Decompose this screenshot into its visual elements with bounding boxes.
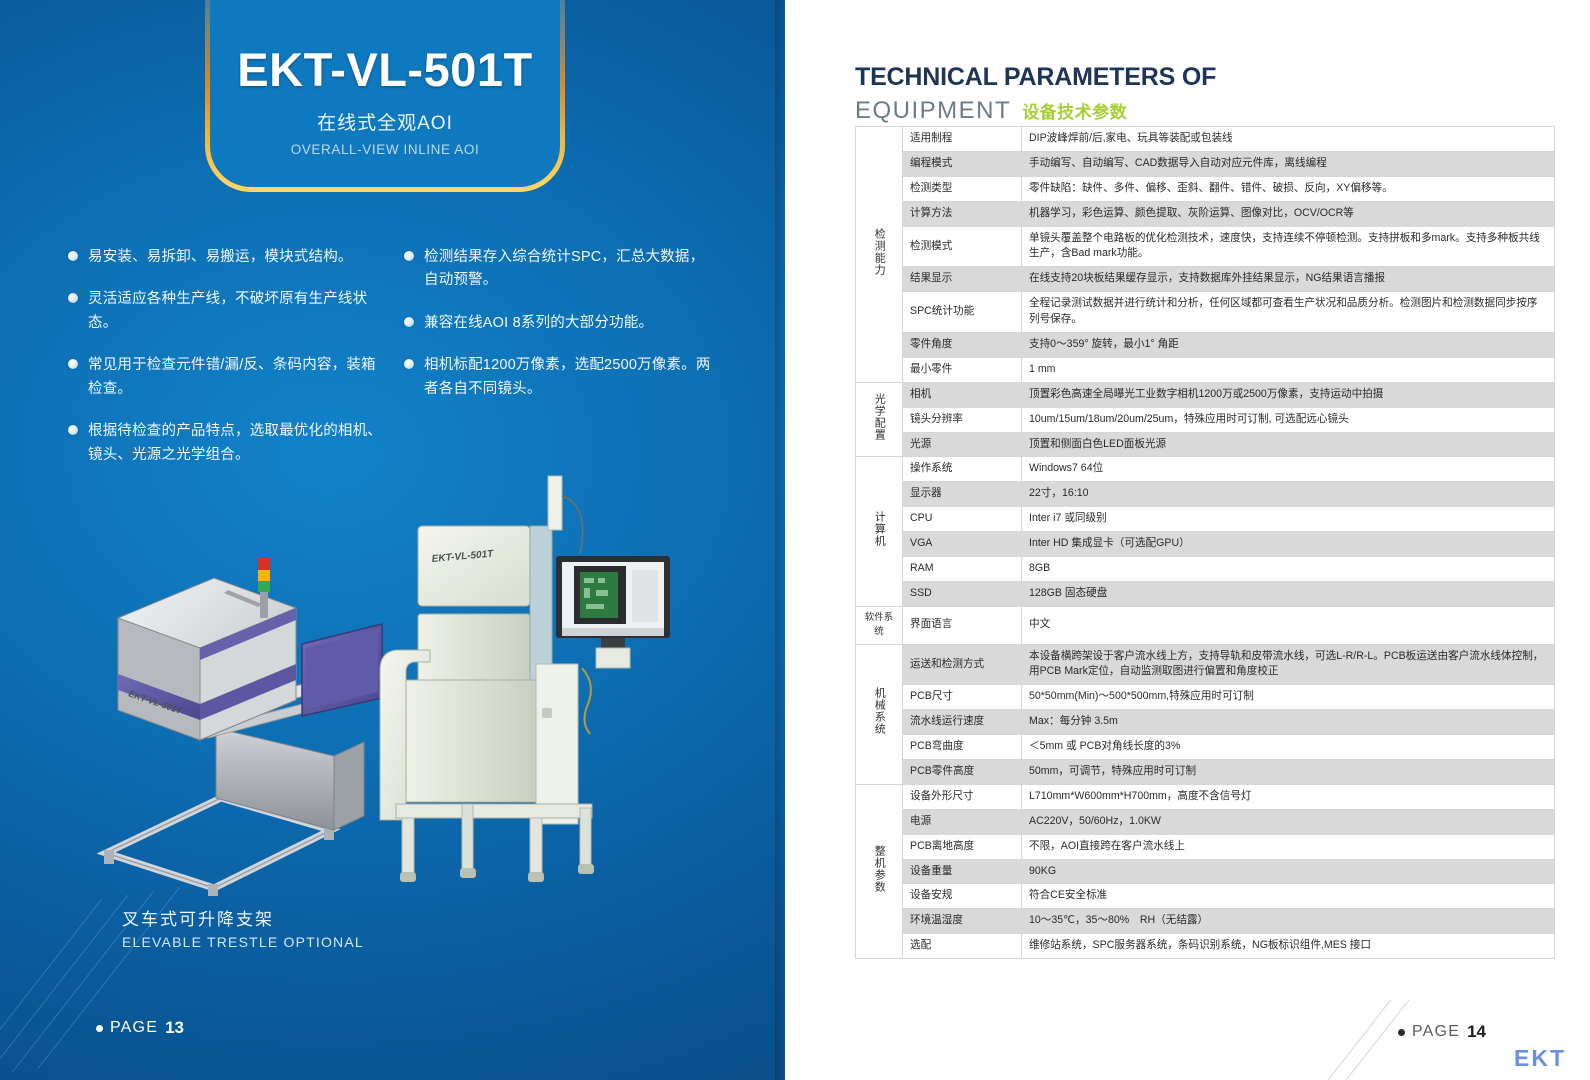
product-photo: EKT-VL-501T (96, 468, 706, 898)
spec-row: 最小零件1 mm (856, 357, 1555, 382)
feature-bullet-item: 检测结果存入综合统计SPC，汇总大数据，自动预警。 (404, 246, 718, 293)
spec-row: 整机参数设备外形尺寸L710mm*W600mm*H700mm，高度不含信号灯 (856, 784, 1555, 809)
spec-value: 顶置彩色高速全局曝光工业数字相机1200万或2500万像素，支持运动中拍摄 (1022, 382, 1555, 407)
spec-key: 结果显示 (903, 267, 1022, 292)
spec-key: 电源 (903, 809, 1022, 834)
spec-key: 操作系统 (903, 457, 1022, 482)
spec-group-label: 软件系统 (856, 606, 903, 644)
page-label: PAGE (1412, 1023, 1460, 1041)
feature-bullet-text: 常见用于检查元件错/漏/反、条码内容，装箱检查。 (88, 354, 382, 401)
spec-key: 检测类型 (903, 176, 1022, 201)
page-marker-right: PAGE 14 (1398, 1022, 1486, 1042)
brochure-spread: EKT-VL-501T 在线式全观AOI OVERALL-VIEW INLINE… (0, 0, 1590, 1080)
product-subtitle-cn: 在线式全观AOI (317, 108, 453, 135)
left-page: EKT-VL-501T 在线式全观AOI OVERALL-VIEW INLINE… (0, 0, 785, 1080)
spec-row: 环境温湿度10～35℃，35～80% RH（无结露） (856, 909, 1555, 934)
spec-row: 计算机操作系统Windows7 64位 (856, 457, 1555, 482)
spec-key: 设备重量 (903, 859, 1022, 884)
spec-key: 选配 (903, 934, 1022, 959)
technical-parameters-table: 检测能力适用制程DIP波峰焊前/后,家电、玩具等装配或包装线编程模式手动编写、自… (855, 126, 1555, 959)
feature-bullet-item: 灵活适应各种生产线，不破坏原有生产线状态。 (68, 288, 382, 335)
spec-row: 电源AC220V，50/60Hz，1.0KW (856, 809, 1555, 834)
spec-key: RAM (903, 557, 1022, 582)
spec-value: 90KG (1022, 859, 1555, 884)
spec-key: 设备安规 (903, 884, 1022, 909)
spec-value: 中文 (1022, 606, 1555, 644)
spec-row: 光源顶置和侧面白色LED面板光源 (856, 432, 1555, 457)
spec-key: SPC统计功能 (903, 292, 1022, 333)
caption-cn: 叉车式可升降支架 (122, 905, 522, 930)
spec-row: 显示器22寸，16:10 (856, 482, 1555, 507)
right-page: TECHNICAL PARAMETERS OF EQUIPMENT 设备技术参数… (795, 0, 1590, 1080)
spec-row: RAM8GB (856, 557, 1555, 582)
spec-group-label: 检测能力 (856, 127, 903, 383)
spec-value: 在线支持20块板结果缓存显示，支持数据库外挂结果显示，NG结果语言播报 (1022, 267, 1555, 292)
spec-key: 流水线运行速度 (903, 710, 1022, 735)
heading-line2: EQUIPMENT (855, 97, 1011, 125)
spec-value: 50mm，可调节，特殊应用时可订制 (1022, 760, 1555, 785)
spec-key: 镜头分辨率 (903, 407, 1022, 432)
spec-value: 50*50mm(Min)～500*500mm,特殊应用时可订制 (1022, 685, 1555, 710)
spec-value: 8GB (1022, 557, 1555, 582)
spec-group-label: 计算机 (856, 457, 903, 606)
feature-bullet-item: 常见用于检查元件错/漏/反、条码内容，装箱检查。 (68, 354, 382, 401)
spec-row: 光学配置相机顶置彩色高速全局曝光工业数字相机1200万或2500万像素，支持运动… (856, 382, 1555, 407)
spec-row: PCB离地高度不限，AOI直接跨在客户流水线上 (856, 834, 1555, 859)
spec-key: 界面语言 (903, 606, 1022, 644)
heading-line1: TECHNICAL PARAMETERS OF (855, 64, 1216, 92)
feature-bullet-text: 检测结果存入综合统计SPC，汇总大数据，自动预警。 (424, 246, 718, 293)
spec-key: 显示器 (903, 482, 1022, 507)
spec-value: 单镜头覆盖整个电路板的优化检测技术，速度快，支持连续不停顿检测。支持拼板和多ma… (1022, 226, 1555, 267)
spec-row: PCB尺寸50*50mm(Min)～500*500mm,特殊应用时可订制 (856, 685, 1555, 710)
bullet-dot-icon (404, 359, 414, 369)
spec-row: 设备重量90KG (856, 859, 1555, 884)
feature-bullet-lists: 易安装、易拆卸、易搬运，模块式结构。灵活适应各种生产线，不破坏原有生产线状态。常… (68, 246, 718, 486)
spec-value: 不限，AOI直接跨在客户流水线上 (1022, 834, 1555, 859)
spec-key: 光源 (903, 432, 1022, 457)
spec-row: 检测模式单镜头覆盖整个电路板的优化检测技术，速度快，支持连续不停顿检测。支持拼板… (856, 226, 1555, 267)
spec-value: AC220V，50/60Hz，1.0KW (1022, 809, 1555, 834)
spec-key: 设备外形尺寸 (903, 784, 1022, 809)
feature-bullet-item: 兼容在线AOI 8系列的大部分功能。 (404, 312, 718, 335)
spec-key: PCB离地高度 (903, 834, 1022, 859)
feature-bullet-item: 相机标配1200万像素，选配2500万像素。两者各自不同镜头。 (404, 354, 718, 401)
brand-logo: EKT (1514, 1045, 1566, 1072)
spec-value: 10um/15um/18um/20um/25um，特殊应用时可订制, 可选配远心… (1022, 407, 1555, 432)
spec-value: 128GB 固态硬盘 (1022, 581, 1555, 606)
bullet-dot-icon (68, 293, 78, 303)
spec-value: DIP波峰焊前/后,家电、玩具等装配或包装线 (1022, 127, 1555, 152)
section-heading: TECHNICAL PARAMETERS OF EQUIPMENT 设备技术参数 (855, 64, 1216, 125)
feature-bullet-text: 灵活适应各种生产线，不破坏原有生产线状态。 (88, 288, 382, 335)
spec-row: 设备安规符合CE安全标准 (856, 884, 1555, 909)
page-bullet-icon (1398, 1029, 1405, 1036)
spec-group-label: 整机参数 (856, 784, 903, 958)
page-label: PAGE (110, 1019, 158, 1037)
caption-en: ELEVABLE TRESTLE OPTIONAL (122, 934, 522, 950)
spec-key: VGA (903, 532, 1022, 557)
aoi-module-right: EKT-VL-501T (380, 476, 670, 882)
page-bullet-icon (96, 1025, 103, 1032)
bullet-dot-icon (68, 251, 78, 261)
product-illustration-svg-right: EKT-VL-501T (96, 468, 706, 898)
spec-key: 适用制程 (903, 127, 1022, 152)
feature-column-left: 易安装、易拆卸、易搬运，模块式结构。灵活适应各种生产线，不破坏原有生产线状态。常… (68, 246, 382, 486)
spec-key: 零件角度 (903, 333, 1022, 358)
feature-bullet-text: 易安装、易拆卸、易搬运，模块式结构。 (88, 246, 353, 269)
spec-key: 环境温湿度 (903, 909, 1022, 934)
spec-value: 机器学习，彩色运算、颜色提取、灰阶运算、图像对比，OCV/OCR等 (1022, 201, 1555, 226)
page-number: 13 (165, 1018, 184, 1038)
spec-key: PCB弯曲度 (903, 735, 1022, 760)
spec-row: PCB弯曲度＜5mm 或 PCB对角线长度的3% (856, 735, 1555, 760)
feature-bullet-item: 根据待检查的产品特点，选取最优化的相机、镜头、光源之光学组合。 (68, 420, 382, 467)
spec-value: 本设备横跨架设于客户流水线上方，支持导轨和皮带流水线，可选L-R/R-L。PCB… (1022, 644, 1555, 685)
spec-row: 检测类型零件缺陷：缺件、多件、偏移、歪斜、翻件、错件、破损、反向，XY偏移等。 (856, 176, 1555, 201)
spec-row: 检测能力适用制程DIP波峰焊前/后,家电、玩具等装配或包装线 (856, 127, 1555, 152)
spec-value: Windows7 64位 (1022, 457, 1555, 482)
spec-value: 手动编写、自动编写、CAD数据导入自动对应元件库，离线编程 (1022, 151, 1555, 176)
spec-key: PCB零件高度 (903, 760, 1022, 785)
spec-row: 零件角度支持0～359° 旋转，最小1° 角距 (856, 333, 1555, 358)
spec-row: 机械系统运送和检测方式本设备横跨架设于客户流水线上方，支持导轨和皮带流水线，可选… (856, 644, 1555, 685)
spec-key: CPU (903, 507, 1022, 532)
spec-value: Max：每分钟 3.5m (1022, 710, 1555, 735)
spec-row: CPUInter i7 或同级别 (856, 507, 1555, 532)
spec-value: L710mm*W600mm*H700mm，高度不含信号灯 (1022, 784, 1555, 809)
spec-key: PCB尺寸 (903, 685, 1022, 710)
spec-row: VGAInter HD 集成显卡（可选配GPU） (856, 532, 1555, 557)
product-model-name: EKT-VL-501T (237, 46, 532, 93)
spec-value: 支持0～359° 旋转，最小1° 角距 (1022, 333, 1555, 358)
feature-bullet-item: 易安装、易拆卸、易搬运，模块式结构。 (68, 246, 382, 269)
feature-bullet-text: 兼容在线AOI 8系列的大部分功能。 (424, 312, 653, 335)
spec-key: 运送和检测方式 (903, 644, 1022, 685)
spec-row: SSD128GB 固态硬盘 (856, 581, 1555, 606)
spec-row: 编程模式手动编写、自动编写、CAD数据导入自动对应元件库，离线编程 (856, 151, 1555, 176)
product-subtitle-en: OVERALL-VIEW INLINE AOI (291, 142, 480, 157)
bullet-dot-icon (404, 251, 414, 261)
title-block: EKT-VL-501T 在线式全观AOI OVERALL-VIEW INLINE… (205, 0, 565, 192)
spec-row: PCB零件高度50mm，可调节，特殊应用时可订制 (856, 760, 1555, 785)
spec-group-label: 光学配置 (856, 382, 903, 457)
spec-value: ＜5mm 或 PCB对角线长度的3% (1022, 735, 1555, 760)
bullet-dot-icon (68, 359, 78, 369)
page-marker-left: PAGE 13 (96, 1018, 184, 1038)
spec-value: 顶置和侧面白色LED面板光源 (1022, 432, 1555, 457)
spec-row: 软件系统界面语言中文 (856, 606, 1555, 644)
photo-caption: 叉车式可升降支架 ELEVABLE TRESTLE OPTIONAL (122, 905, 522, 950)
feature-bullet-text: 相机标配1200万像素，选配2500万像素。两者各自不同镜头。 (424, 354, 718, 401)
spec-value: 10～35℃，35～80% RH（无结露） (1022, 909, 1555, 934)
heading-cn: 设备技术参数 (1022, 98, 1127, 123)
spec-row: 结果显示在线支持20块板结果缓存显示，支持数据库外挂结果显示，NG结果语言播报 (856, 267, 1555, 292)
spec-value: 22寸，16:10 (1022, 482, 1555, 507)
spec-row: 流水线运行速度Max：每分钟 3.5m (856, 710, 1555, 735)
spec-key: 最小零件 (903, 357, 1022, 382)
spec-group-label: 机械系统 (856, 644, 903, 784)
feature-bullet-text: 根据待检查的产品特点，选取最优化的相机、镜头、光源之光学组合。 (88, 420, 382, 467)
bullet-dot-icon (404, 317, 414, 327)
spec-value: Inter HD 集成显卡（可选配GPU） (1022, 532, 1555, 557)
spec-row: 计算方法机器学习，彩色运算、颜色提取、灰阶运算、图像对比，OCV/OCR等 (856, 201, 1555, 226)
spec-value: 符合CE安全标准 (1022, 884, 1555, 909)
page-number: 14 (1467, 1022, 1486, 1042)
spec-key: 计算方法 (903, 201, 1022, 226)
spec-key: 相机 (903, 382, 1022, 407)
spec-value: Inter i7 或同级别 (1022, 507, 1555, 532)
spec-key: SSD (903, 581, 1022, 606)
feature-column-right: 检测结果存入综合统计SPC，汇总大数据，自动预警。兼容在线AOI 8系列的大部分… (404, 246, 718, 486)
spec-value: 全程记录测试数据并进行统计和分析，任何区域都可查看生产状况和品质分析。检测图片和… (1022, 292, 1555, 333)
spec-row: 镜头分辨率10um/15um/18um/20um/25um，特殊应用时可订制, … (856, 407, 1555, 432)
spec-value: 零件缺陷：缺件、多件、偏移、歪斜、翻件、错件、破损、反向，XY偏移等。 (1022, 176, 1555, 201)
spec-row: SPC统计功能全程记录测试数据并进行统计和分析，任何区域都可查看生产状况和品质分… (856, 292, 1555, 333)
spec-value: 维修站系统，SPC服务器系统，条码识别系统，NG板标识组件,MES 接口 (1022, 934, 1555, 959)
spec-row: 选配维修站系统，SPC服务器系统，条码识别系统，NG板标识组件,MES 接口 (856, 934, 1555, 959)
bullet-dot-icon (68, 425, 78, 435)
spec-value: 1 mm (1022, 357, 1555, 382)
spec-key: 编程模式 (903, 151, 1022, 176)
spec-table-wrapper: 检测能力适用制程DIP波峰焊前/后,家电、玩具等装配或包装线编程模式手动编写、自… (855, 126, 1555, 959)
spec-key: 检测模式 (903, 226, 1022, 267)
